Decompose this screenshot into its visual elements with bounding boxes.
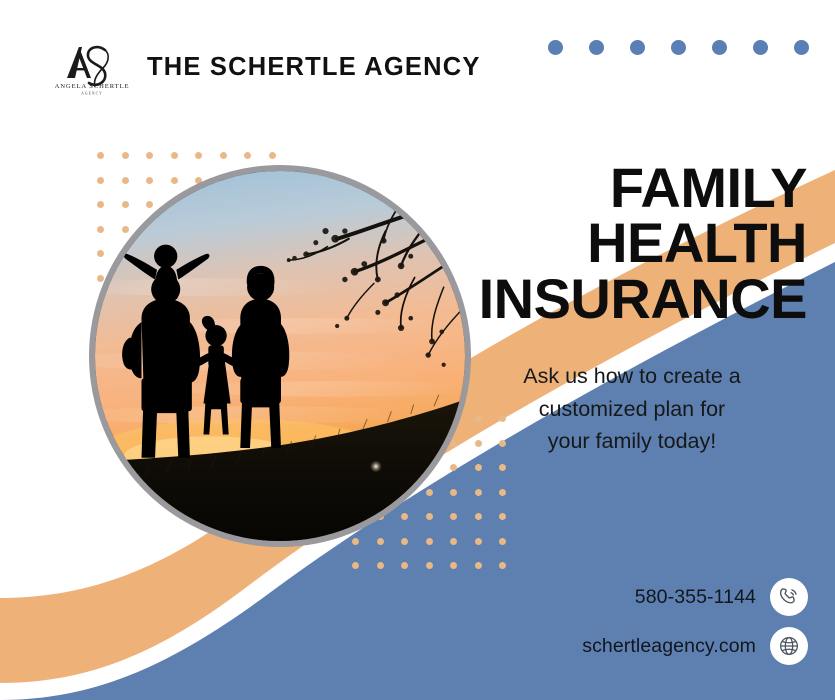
agency-name: THE SCHERTLE AGENCY xyxy=(147,53,481,82)
decorative-dot xyxy=(475,538,482,545)
decorative-dot xyxy=(475,562,482,569)
decorative-dot xyxy=(269,152,276,159)
headline-line-3: INSURANCE xyxy=(377,271,807,326)
subheadline: Ask us how to create a customized plan f… xyxy=(467,360,797,458)
decorative-dot xyxy=(475,513,482,520)
subheadline-line-3: your family today! xyxy=(467,425,797,458)
header-dot xyxy=(671,40,686,55)
decorative-dot xyxy=(122,152,129,159)
flyer-canvas: ANGELA SCHERTLE AGENCY THE SCHERTLE AGEN… xyxy=(0,0,835,700)
contact-row-phone[interactable]: 580-355-1144 xyxy=(582,578,808,616)
decorative-dot xyxy=(450,562,457,569)
decorative-dot xyxy=(499,489,506,496)
decorative-dot xyxy=(401,562,408,569)
as-monogram-icon: ANGELA SCHERTLE AGENCY xyxy=(55,38,129,96)
svg-text:ANGELA SCHERTLE: ANGELA SCHERTLE xyxy=(55,83,129,90)
header: ANGELA SCHERTLE AGENCY THE SCHERTLE AGEN… xyxy=(0,0,835,120)
page-title: FAMILY HEALTH INSURANCE xyxy=(377,160,807,326)
header-dot xyxy=(794,40,809,55)
subheadline-line-2: customized plan for xyxy=(467,393,797,426)
header-dot xyxy=(712,40,727,55)
decorative-dot xyxy=(499,562,506,569)
header-dot xyxy=(753,40,768,55)
decorative-dot xyxy=(377,562,384,569)
phone-icon-glyph xyxy=(776,584,802,610)
contact-block: 580-355-1144 schertleagency.com xyxy=(582,578,808,665)
decorative-dot xyxy=(499,464,506,471)
decorative-dot xyxy=(475,489,482,496)
header-dot-row xyxy=(548,40,809,55)
header-dot xyxy=(630,40,645,55)
header-dot xyxy=(548,40,563,55)
decorative-dot xyxy=(475,464,482,471)
contact-row-website[interactable]: schertleagency.com xyxy=(582,627,808,665)
brand-lockup[interactable]: ANGELA SCHERTLE AGENCY THE SCHERTLE AGEN… xyxy=(55,38,481,96)
decorative-dot xyxy=(220,152,227,159)
decorative-dot xyxy=(146,152,153,159)
decorative-dot xyxy=(499,513,506,520)
decorative-dot xyxy=(97,152,104,159)
headline-line-2: HEALTH xyxy=(377,215,807,270)
globe-icon[interactable] xyxy=(770,627,808,665)
website-url[interactable]: schertleagency.com xyxy=(582,635,756,658)
subheadline-line-1: Ask us how to create a xyxy=(467,360,797,393)
decorative-dot xyxy=(195,152,202,159)
decorative-dot xyxy=(352,562,359,569)
headline-line-1: FAMILY xyxy=(377,160,807,215)
phone-icon[interactable] xyxy=(770,578,808,616)
decorative-dot xyxy=(426,562,433,569)
as-monogram-logo: ANGELA SCHERTLE AGENCY xyxy=(55,38,129,96)
decorative-dot xyxy=(244,152,251,159)
decorative-dot xyxy=(499,538,506,545)
globe-icon-glyph xyxy=(776,633,802,659)
phone-number[interactable]: 580-355-1144 xyxy=(635,586,756,609)
decorative-dot xyxy=(171,152,178,159)
header-dot xyxy=(589,40,604,55)
svg-text:AGENCY: AGENCY xyxy=(81,92,103,96)
